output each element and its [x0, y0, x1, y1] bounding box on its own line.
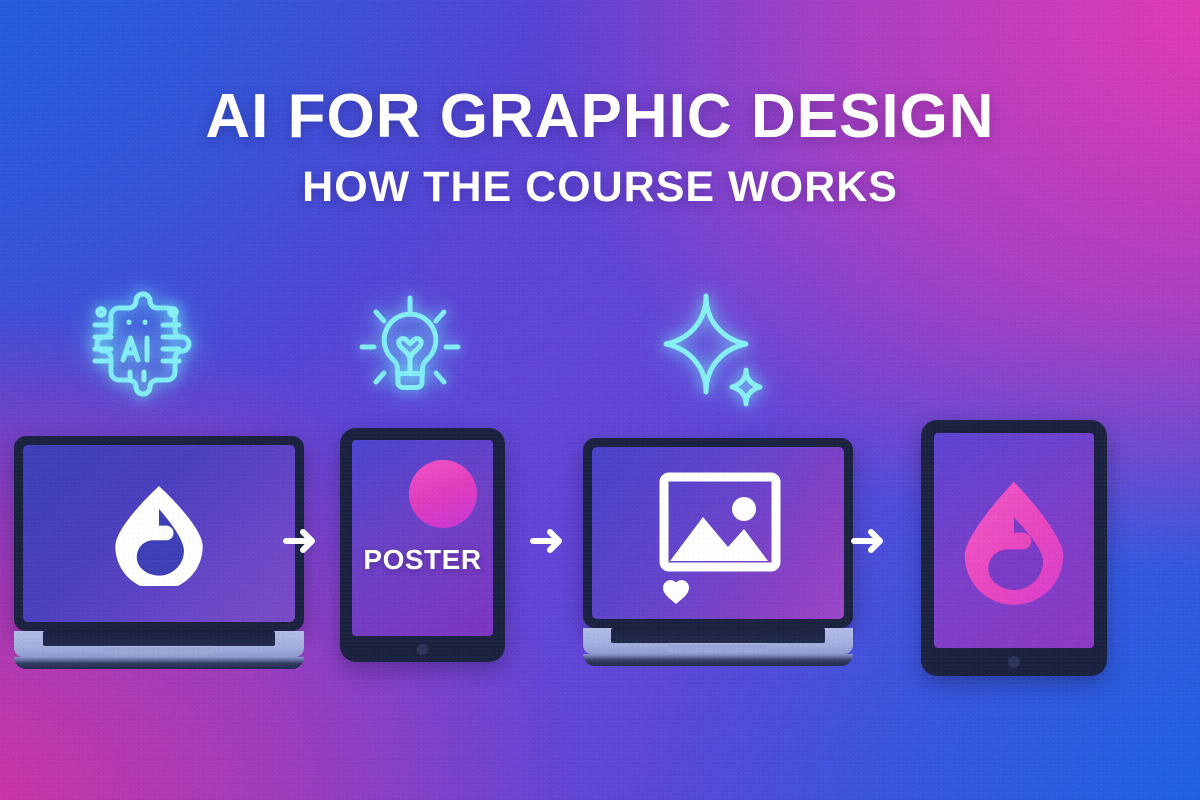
laptop-base	[14, 631, 304, 657]
tablet-home-button[interactable]	[1008, 656, 1020, 668]
arrow-step-1-to-2	[281, 524, 321, 558]
arrow-step-2-to-3	[528, 524, 568, 558]
step-laptop-image-preview[interactable]	[583, 438, 853, 666]
laptop-screen	[23, 445, 295, 622]
laptop-base	[583, 628, 853, 654]
laptop-keyboard	[611, 628, 825, 643]
sparkle-icon	[658, 288, 770, 406]
lightbulb-icon	[352, 292, 468, 404]
droplet-logo-icon	[958, 477, 1070, 605]
poster-label: POSTER	[352, 544, 493, 576]
image-placeholder-icon	[664, 477, 776, 567]
laptop-lid	[14, 436, 304, 631]
tablet-chin	[417, 636, 428, 662]
tablet-screen	[934, 433, 1094, 648]
laptop-keyboard	[43, 631, 275, 646]
tablet-chin	[1008, 648, 1020, 676]
heart-icon	[663, 580, 689, 604]
laptop-front-edge	[14, 657, 304, 669]
step-tablet-final-logo[interactable]	[921, 420, 1107, 676]
tablet-home-button[interactable]	[417, 644, 428, 655]
header-block: AI FOR GRAPHIC DESIGN HOW THE COURSE WOR…	[0, 86, 1200, 209]
step-laptop-design-tool[interactable]	[14, 436, 304, 669]
ai-chip-icon	[78, 282, 196, 402]
laptop-trackpad	[668, 643, 768, 652]
page-title: AI FOR GRAPHIC DESIGN	[0, 86, 1200, 148]
laptop-lid	[583, 438, 853, 628]
poster-accent-circle	[409, 460, 477, 528]
page-subtitle: HOW THE COURSE WORKS	[0, 166, 1200, 209]
step-tablet-poster[interactable]: POSTER	[340, 428, 505, 662]
laptop-front-edge	[583, 654, 853, 666]
tablet-screen: POSTER	[352, 440, 493, 636]
poster-canvas: AI FOR GRAPHIC DESIGN HOW THE COURSE WOR…	[0, 0, 1200, 800]
arrow-step-3-to-4	[849, 524, 889, 558]
droplet-logo-icon	[107, 482, 211, 586]
laptop-screen	[592, 447, 844, 619]
laptop-trackpad	[105, 646, 213, 655]
tablet-body	[921, 420, 1107, 676]
tablet-body: POSTER	[340, 428, 505, 662]
